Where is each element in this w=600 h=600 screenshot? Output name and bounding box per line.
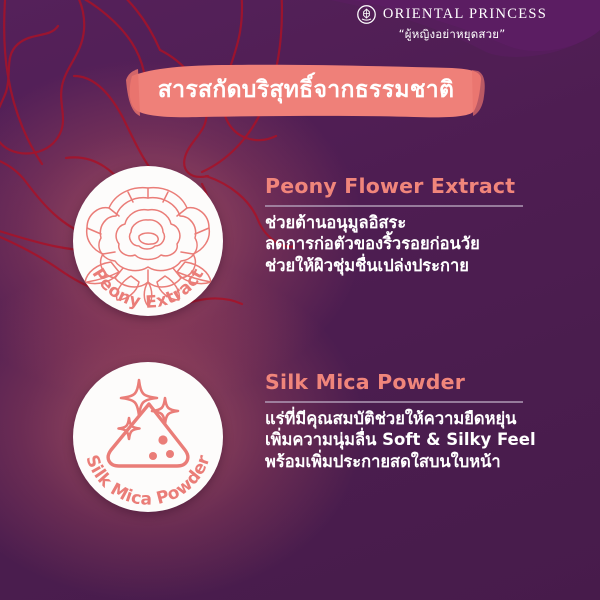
mica-badge[interactable]: Silk Mica Powder <box>73 362 223 512</box>
description-line: ลดการก่อตัวของริ้วรอยก่อนวัย <box>265 233 586 255</box>
ingredient-title-peony: Peony Flower Extract <box>265 175 586 198</box>
description-line: ช่วยให้ผิวชุ่มชื่นเปล่งประกาย <box>265 255 586 277</box>
ingredient-row-mica: Silk Mica Powder Silk Mica Powder แร่ที่… <box>0 344 600 473</box>
mica-flask-sparkle-icon: Silk Mica Powder <box>73 362 223 512</box>
title-divider-peony <box>265 205 523 207</box>
promo-canvas: ORIENTAL PRINCESS “ผู้หญิงอย่าหยุดสวย” ส… <box>0 0 600 600</box>
svg-text:Silk Mica Powder: Silk Mica Powder <box>81 452 214 509</box>
brand-block: ORIENTAL PRINCESS “ผู้หญิงอย่าหยุดสวย” <box>322 5 582 44</box>
peony-flower-icon: Peony Extract <box>73 166 223 316</box>
brand-row: ORIENTAL PRINCESS <box>322 5 582 24</box>
text-column-peony: Peony Flower Extract ช่วยต้านอนุมูลอิสระ… <box>265 148 600 277</box>
description-line: พร้อมเพิ่มประกายสดใสบนใบหน้า <box>265 451 586 473</box>
badge-column-peony: Peony Extract <box>0 148 265 277</box>
description-line: แร่ที่มีคุณสมบัติช่วยให้ความยืดหยุ่น <box>265 408 586 430</box>
ingredient-description-mica: แร่ที่มีคุณสมบัติช่วยให้ความยืดหยุ่น เพิ… <box>265 408 586 474</box>
brand-tagline: “ผู้หญิงอย่าหยุดสวย” <box>322 26 582 44</box>
ingredient-title-mica: Silk Mica Powder <box>265 371 586 394</box>
ingredient-row-peony: Peony Extract Peony Flower Extract ช่วยต… <box>0 148 600 277</box>
brand-name: ORIENTAL PRINCESS <box>383 6 547 23</box>
peony-badge[interactable]: Peony Extract <box>73 166 223 316</box>
description-line: ช่วยต้านอนุมูลอิสระ <box>265 212 586 234</box>
oriental-princess-emblem-icon <box>357 5 376 24</box>
text-column-mica: Silk Mica Powder แร่ที่มีคุณสมบัติช่วยให… <box>265 344 600 473</box>
ingredient-description-peony: ช่วยต้านอนุมูลอิสระ ลดการก่อตัวของริ้วรอ… <box>265 212 586 278</box>
mica-badge-caption: Silk Mica Powder <box>81 452 214 509</box>
title-divider-mica <box>265 401 523 403</box>
description-line: เพิ่มความนุ่มลื่น Soft & Silky Feel <box>265 429 586 451</box>
banner-text: สารสกัดบริสุทธิ์จากธรรมชาติ <box>126 62 486 120</box>
section-banner: สารสกัดบริสุทธิ์จากธรรมชาติ <box>126 62 486 120</box>
badge-column-mica: Silk Mica Powder <box>0 344 265 473</box>
